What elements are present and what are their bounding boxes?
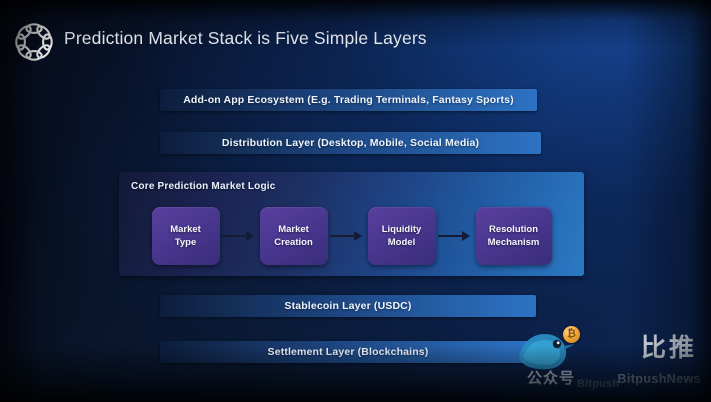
- flow-node-label-line2: Type: [175, 236, 196, 249]
- arrow-right-icon: [220, 231, 260, 241]
- layer-bar-addon-app-ecosystem[interactable]: Add-on App Ecosystem (E.g. Trading Termi…: [160, 89, 537, 111]
- watermark-brand-cn: 比推: [641, 328, 697, 364]
- flow-node-label-line2: Creation: [274, 236, 313, 249]
- layer-bar-settlement[interactable]: Settlement Layer (Blockchains): [160, 341, 536, 363]
- page-title: Prediction Market Stack is Five Simple L…: [64, 28, 427, 49]
- flow-node-label-line2: Mechanism: [488, 236, 540, 249]
- layer-bar-label: Settlement Layer (Blockchains): [268, 346, 429, 358]
- flow-node-label-line1: Liquidity: [382, 223, 422, 236]
- flow-node-label-line1: Market: [278, 223, 309, 236]
- flow-node-liquidity-model[interactable]: Liquidity Model: [368, 207, 436, 265]
- layer-bar-label: Distribution Layer (Desktop, Mobile, Soc…: [222, 137, 479, 149]
- bitcoin-coin-icon: ₿: [563, 326, 580, 343]
- layer-bar-label: Add-on App Ecosystem (E.g. Trading Termi…: [183, 94, 514, 106]
- core-panel-title: Core Prediction Market Logic: [131, 181, 276, 192]
- flow-node-market-creation[interactable]: Market Creation: [260, 207, 328, 265]
- slide-canvas: Prediction Market Stack is Five Simple L…: [0, 0, 711, 402]
- flow-node-market-type[interactable]: Market Type: [152, 207, 220, 265]
- flow-node-label-line1: Market: [170, 223, 201, 236]
- core-flow-row: Market Type Market Creation Liquidity Mo…: [119, 200, 584, 272]
- arrow-right-icon: [328, 231, 368, 241]
- flow-node-label-line1: Resolution: [489, 223, 538, 236]
- flow-node-resolution-mechanism[interactable]: Resolution Mechanism: [476, 207, 552, 265]
- layer-bar-stablecoin[interactable]: Stablecoin Layer (USDC): [160, 295, 536, 317]
- watermark-ghost-text: Bitpush: [577, 378, 619, 390]
- arrow-right-icon: [436, 231, 476, 241]
- layer-bar-distribution[interactable]: Distribution Layer (Desktop, Mobile, Soc…: [160, 132, 541, 154]
- watermark-account-cn: 公众号: [527, 367, 575, 388]
- layer-bar-label: Stablecoin Layer (USDC): [284, 300, 411, 312]
- interlocking-rings-logo-icon: [12, 20, 56, 64]
- watermark-brand-en: BitpushNews: [617, 372, 701, 386]
- flow-node-label-line2: Model: [388, 236, 415, 249]
- core-prediction-market-logic-panel[interactable]: Core Prediction Market Logic Market Type…: [119, 172, 584, 276]
- watermark: ₿ 比推 公众号 Bitpush BitpushNews: [521, 326, 707, 392]
